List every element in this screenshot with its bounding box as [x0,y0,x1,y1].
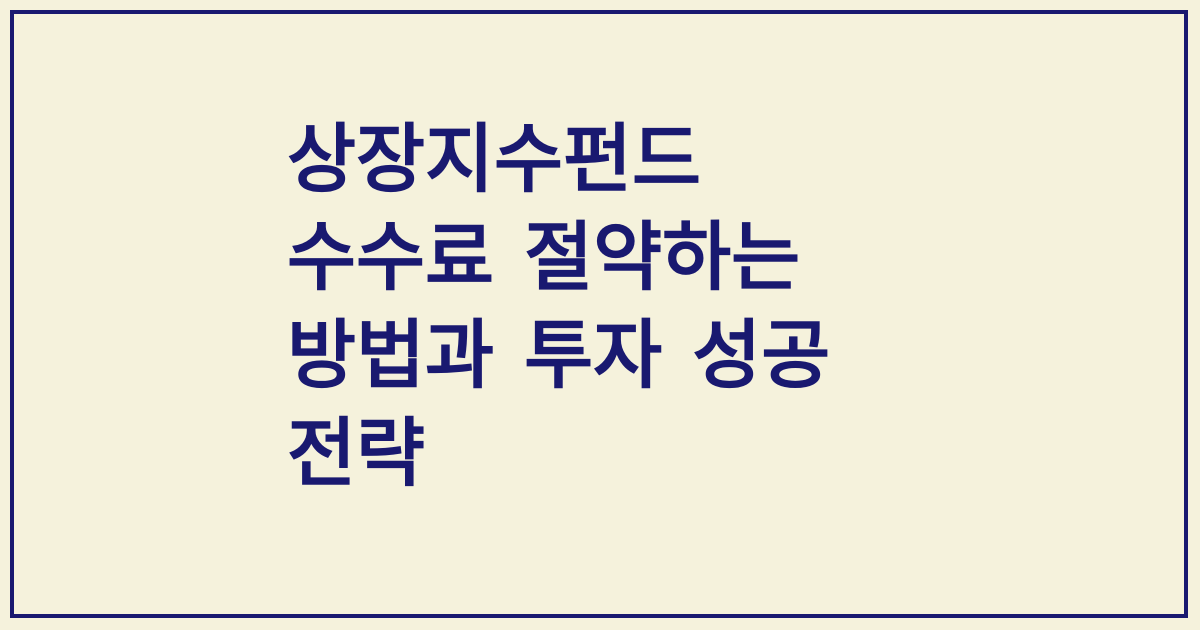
headline-line-1: 상장지수펀드 [287,110,927,208]
headline-line-3: 방법과 투자 성공 [287,306,927,404]
thumbnail-card: 상장지수펀드 수수료 절약하는 방법과 투자 성공 전략 [0,0,1200,630]
page-title: 상장지수펀드 수수료 절약하는 방법과 투자 성공 전략 [287,110,927,502]
headline-line-4: 전략 [287,404,927,502]
headline-line-2: 수수료 절약하는 [287,208,927,306]
headline-block: 상장지수펀드 수수료 절약하는 방법과 투자 성공 전략 [287,110,927,502]
